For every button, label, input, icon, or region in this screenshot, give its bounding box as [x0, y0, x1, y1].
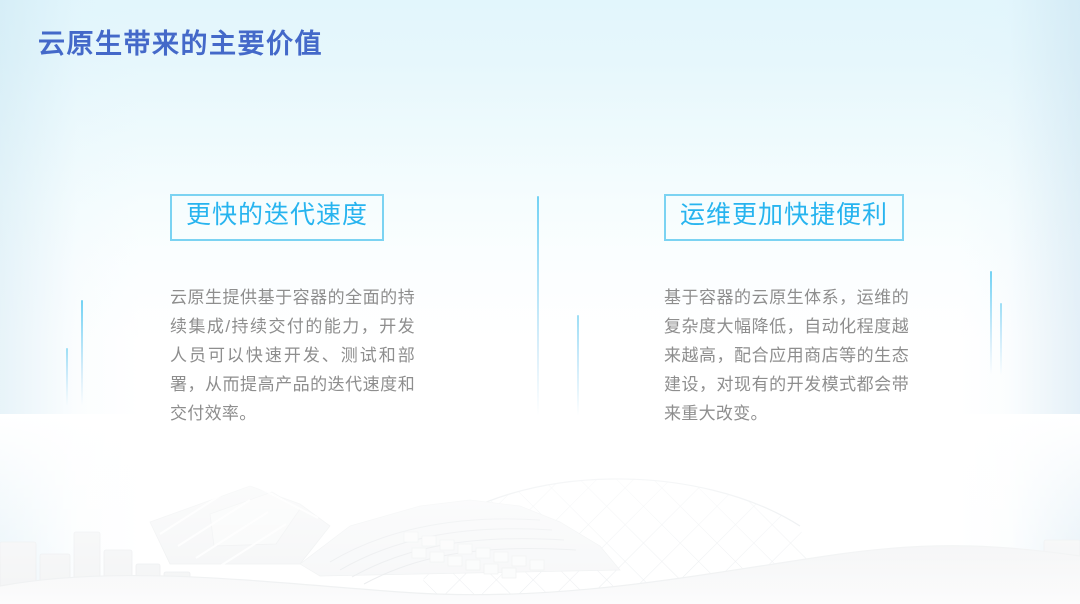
column-body-faster-iteration: 云原生提供基于容器的全面的持续集成/持续交付的能力，开发人员可以快速开发、测试和… — [170, 283, 415, 428]
rule-center-tall — [537, 196, 539, 416]
slide-canvas: 云原生带来的主要价值 更快的迭代速度 云原生提供基于容器的全面的持续集成/持续交… — [0, 0, 1080, 604]
value-column-faster-iteration: 更快的迭代速度 云原生提供基于容器的全面的持续集成/持续交付的能力，开发人员可以… — [170, 194, 420, 428]
rule-left-inner — [81, 300, 83, 406]
right-edge-tint — [960, 0, 1080, 604]
terrain-background-art — [0, 414, 1080, 604]
column-heading-faster-iteration: 更快的迭代速度 — [170, 194, 384, 241]
column-body-easier-operations: 基于容器的云原生体系，运维的复杂度大幅降低，自动化程度越来越高，配合应用商店等的… — [664, 283, 909, 428]
page-title: 云原生带来的主要价值 — [38, 22, 323, 61]
column-heading-easier-operations: 运维更加快捷便利 — [664, 194, 904, 241]
rule-center-short — [577, 315, 579, 416]
left-edge-tint — [0, 0, 140, 604]
rule-right-tall — [990, 271, 992, 375]
rule-right-short — [1000, 303, 1002, 375]
rule-left-outer — [66, 348, 68, 406]
value-column-easier-operations: 运维更加快捷便利 基于容器的云原生体系，运维的复杂度大幅降低，自动化程度越来越高… — [664, 194, 914, 428]
